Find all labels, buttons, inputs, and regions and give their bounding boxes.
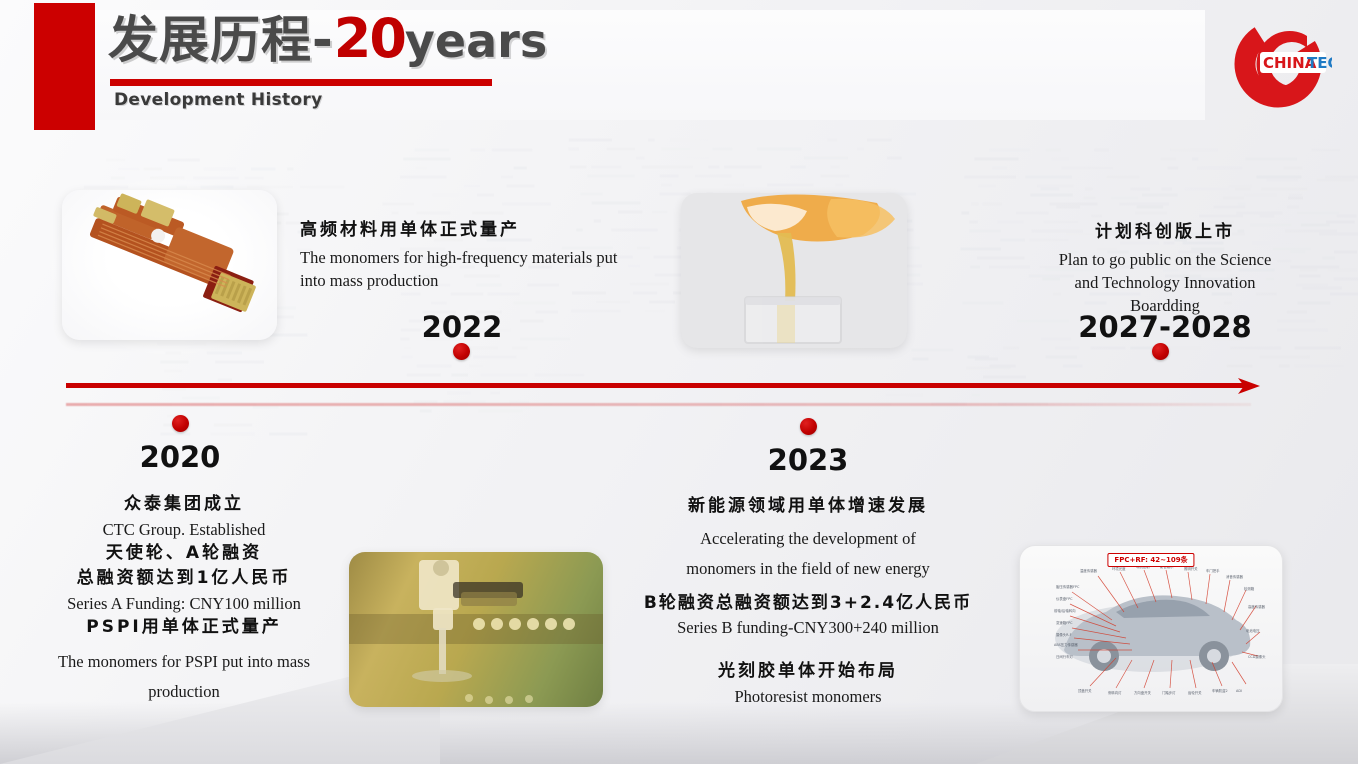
svg-text:车门把手: 车门把手 bbox=[1206, 568, 1220, 573]
car-diagram-label: FPC+RF: 42~109条 bbox=[1107, 553, 1194, 567]
timeline-dot-2027[interactable] bbox=[1152, 343, 1169, 360]
milestone-2022-line-1: The monomers for high-frequency material… bbox=[300, 244, 640, 293]
svg-text:日间行车灯: 日间行车灯 bbox=[1056, 654, 1074, 659]
svg-text:温度传感器: 温度传感器 bbox=[1080, 568, 1098, 573]
milestone-2023-line-5: 光刻胶单体开始布局 bbox=[620, 639, 996, 685]
milestone-2027-line-2: and Technology Innovation bbox=[1020, 271, 1310, 294]
svg-text:前轴/后轴转向: 前轴/后轴转向 bbox=[1054, 608, 1076, 613]
page-subtitle: Development History bbox=[114, 90, 322, 110]
milestone-2020-line-6: The monomers for PSPI put into mass prod… bbox=[24, 641, 344, 708]
page-title-number: 20 bbox=[334, 7, 405, 70]
logo-text-tech: TECH bbox=[1307, 54, 1332, 72]
milestone-year-2023: 2023 bbox=[744, 443, 872, 477]
milestone-2027-body: 计划科创版上市 Plan to go public on the Science… bbox=[1020, 220, 1310, 318]
svg-text:电池电压: 电池电压 bbox=[1246, 628, 1260, 633]
title-underline bbox=[110, 79, 492, 86]
slide-root: 发展历程-20years Development History CHINA T… bbox=[0, 0, 1358, 764]
svg-text:方向盘开关: 方向盘开关 bbox=[1134, 690, 1152, 695]
photo-fpc-board bbox=[62, 190, 277, 340]
page-title-cn: 发展历程- bbox=[108, 11, 334, 69]
milestone-2020-line-3: 总融资额达到1亿人民币 bbox=[24, 566, 344, 592]
milestone-2022-body: 高频材料用单体正式量产 The monomers for high-freque… bbox=[300, 218, 640, 292]
milestone-2020-body: 众泰集团成立 CTC Group. Established 天使轮、A轮融资 总… bbox=[24, 492, 344, 708]
timeline-dot-2020[interactable] bbox=[172, 415, 189, 432]
milestone-2023-line-0: 新能源领域用单体增速发展 bbox=[620, 494, 996, 520]
svg-text:检测箱: 检测箱 bbox=[1244, 586, 1255, 591]
milestone-2027-line-0: 计划科创版上市 bbox=[1020, 220, 1310, 246]
svg-text:摄像头R-F: 摄像头R-F bbox=[1056, 632, 1072, 637]
chinatech-logo: CHINA TECH bbox=[1224, 12, 1332, 116]
svg-text:消音传感器: 消音传感器 bbox=[1226, 574, 1244, 579]
timeline-arrow-icon bbox=[1236, 372, 1266, 400]
milestone-2020: 2020 bbox=[60, 440, 300, 474]
milestone-year-2022: 2022 bbox=[398, 310, 526, 344]
milestone-year-2020: 2020 bbox=[60, 440, 300, 474]
svg-text:门踏步灯: 门踏步灯 bbox=[1162, 690, 1176, 695]
svg-text:车辆防盗2: 车辆防盗2 bbox=[1212, 688, 1228, 693]
milestone-2020-line-2: 天使轮、A轮融资 bbox=[24, 541, 344, 567]
photo-resin-pour bbox=[681, 193, 907, 348]
svg-text:ABS压力传感器: ABS压力传感器 bbox=[1054, 642, 1078, 647]
svg-text:变速箱FPC: 变速箱FPC bbox=[1056, 620, 1073, 625]
timeline-dot-2023[interactable] bbox=[800, 418, 817, 435]
milestone-2023-line-6: Photoresist monomers bbox=[620, 685, 996, 708]
page-title: 发展历程-20years bbox=[108, 12, 547, 66]
milestone-2023-line-3: B轮融资总融资额达到3+2.4亿人民币 bbox=[620, 585, 996, 617]
svg-text:齿轮开关: 齿轮开关 bbox=[1188, 690, 1202, 695]
svg-text:CCD摄像头: CCD摄像头 bbox=[1248, 654, 1266, 659]
svg-text:仪表盘FPC: 仪表盘FPC bbox=[1056, 596, 1073, 601]
milestone-2022-line-0: 高频材料用单体正式量产 bbox=[300, 218, 640, 244]
timeline-dot-2022[interactable] bbox=[453, 343, 470, 360]
milestone-2023-line-2: monomers in the field of new energy bbox=[620, 554, 996, 585]
timeline-axis-reflection bbox=[66, 403, 1251, 406]
svg-text:顶盖开关: 顶盖开关 bbox=[1078, 688, 1092, 693]
timeline-axis bbox=[66, 383, 1251, 388]
svg-text:侧转向灯: 侧转向灯 bbox=[1108, 690, 1122, 695]
milestone-2023-line-4: Series B funding-CNY300+240 million bbox=[620, 616, 996, 639]
svg-text:胎压传感器FPC: 胎压传感器FPC bbox=[1056, 584, 1080, 589]
milestone-2020-line-0: 众泰集团成立 bbox=[24, 492, 344, 518]
svg-text:高度传感器: 高度传感器 bbox=[1248, 604, 1266, 609]
header-red-bar bbox=[34, 3, 95, 130]
svg-text:ADI: ADI bbox=[1236, 689, 1242, 693]
milestone-2023-body: 新能源领域用单体增速发展 Accelerating the developmen… bbox=[620, 494, 996, 708]
milestone-2020-line-4: Series A Funding: CNY100 million bbox=[24, 592, 344, 615]
milestone-year-2027: 2027-2028 bbox=[1075, 310, 1255, 344]
milestone-2020-line-1: CTC Group. Established bbox=[24, 518, 344, 541]
milestone-2020-line-5: PSPI用单体正式量产 bbox=[24, 615, 344, 641]
photo-dispensing-machine bbox=[349, 552, 603, 707]
milestone-2023-line-1: Accelerating the development of bbox=[620, 520, 996, 555]
milestone-2027-line-1: Plan to go public on the Science bbox=[1020, 246, 1310, 271]
page-title-years: years bbox=[405, 14, 547, 68]
photo-car-fpc-diagram: FPC+RF: 42~109条 胎压传感器FPC仪表盘FPC 前轴/后轴转向变速… bbox=[1019, 545, 1283, 712]
